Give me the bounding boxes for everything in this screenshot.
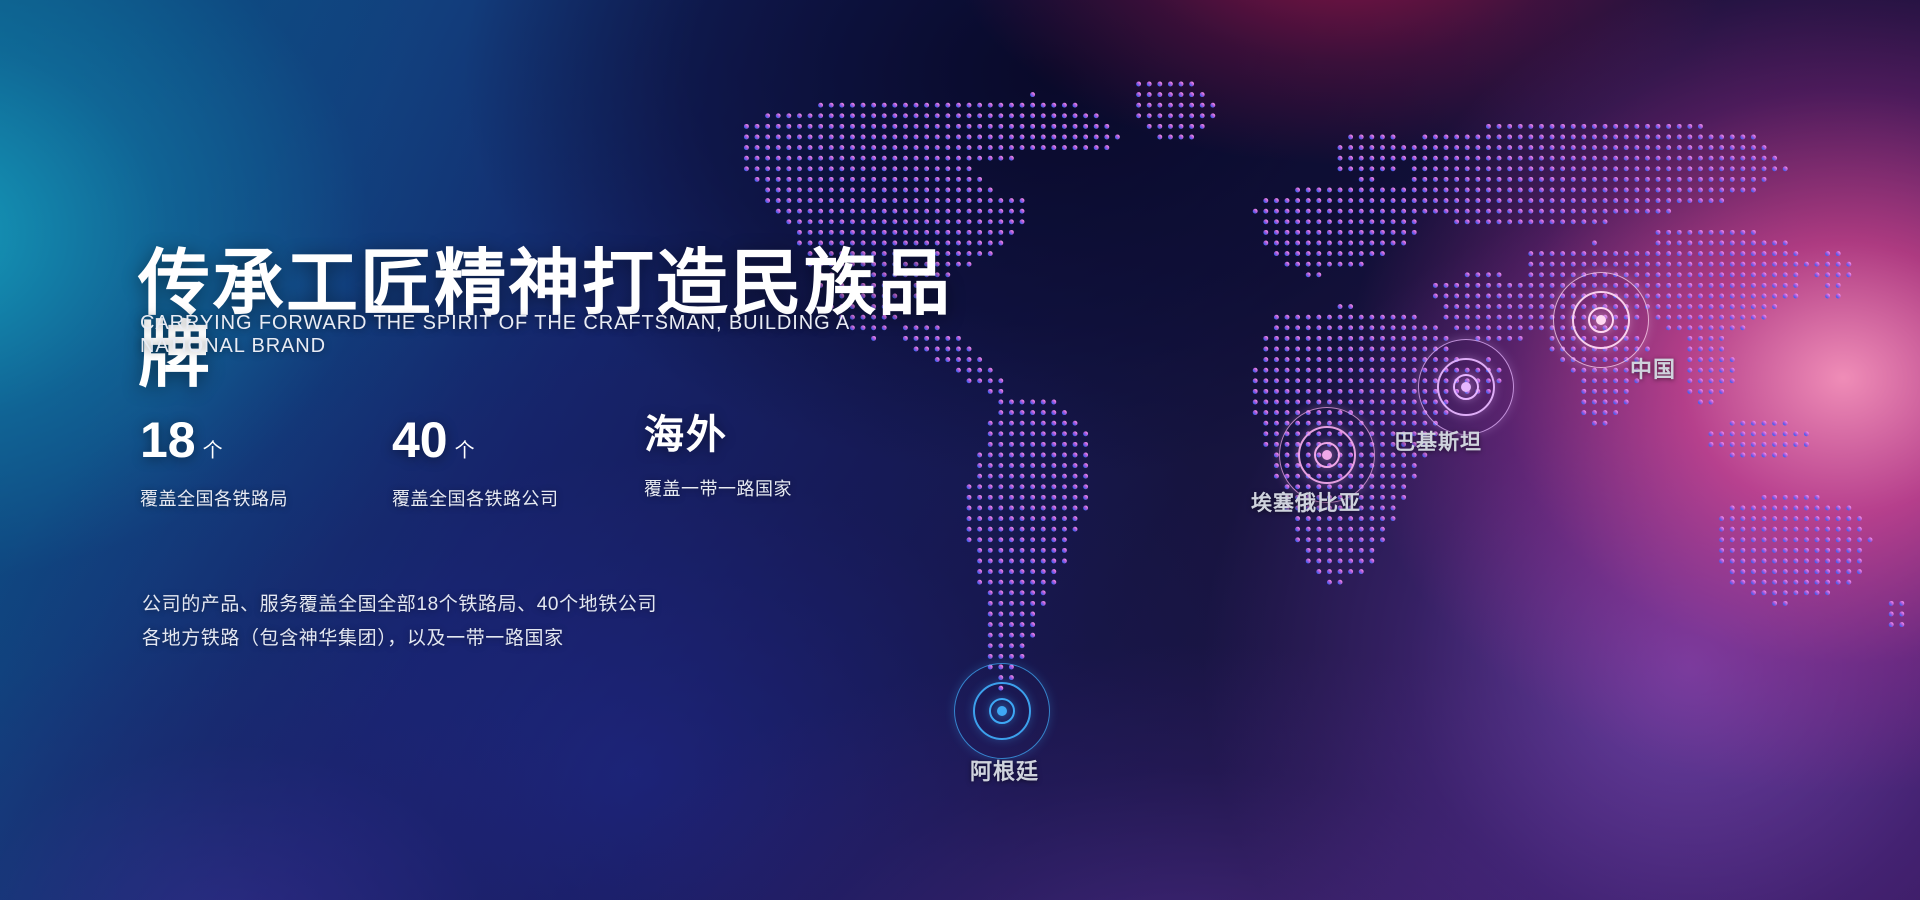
stat-description: 覆盖全国各铁路公司 <box>392 485 644 511</box>
marker-core-dot <box>1596 315 1606 325</box>
map-label-china: 中国 <box>1630 352 1676 384</box>
description-line-2: 各地方铁路（包含神华集团），以及一带一路国家 <box>142 622 657 656</box>
stats-row: 18 个 覆盖全国各铁路局 40 个 覆盖全国各铁路公司 海外 覆盖一带一路国家 <box>140 415 792 511</box>
map-label-pakistan: 巴基斯坦 <box>1394 426 1482 456</box>
description-line-1: 公司的产品、服务覆盖全国全部18个铁路局、40个地铁公司 <box>142 588 657 622</box>
stat-value-group: 海外 <box>644 415 792 455</box>
hero-banner: 中国巴基斯坦埃塞俄比亚阿根廷 传承工匠精神打造民族品牌 CARRYING FOR… <box>0 0 1920 900</box>
stat-item-railway-bureaus: 18 个 覆盖全国各铁路局 <box>140 415 392 511</box>
stat-value-group: 40 个 <box>392 415 644 465</box>
stat-number: 40 <box>392 415 448 465</box>
stat-value-group: 18 个 <box>140 415 392 465</box>
page-subtitle: CARRYING FORWARD THE SPIRIT OF THE CRAFT… <box>140 312 960 358</box>
stat-unit: 个 <box>455 434 475 463</box>
description-paragraph: 公司的产品、服务覆盖全国全部18个铁路局、40个地铁公司 各地方铁路（包含神华集… <box>142 588 657 656</box>
hero-content: 传承工匠精神打造民族品牌 CARRYING FORWARD THE SPIRIT… <box>0 0 960 900</box>
stat-item-overseas: 海外 覆盖一带一路国家 <box>644 415 792 501</box>
stat-number: 海外 <box>644 415 728 455</box>
stat-description: 覆盖全国各铁路局 <box>140 485 392 511</box>
marker-core-dot <box>1461 382 1471 392</box>
stat-unit: 个 <box>203 434 223 463</box>
marker-core-dot <box>1322 450 1332 460</box>
map-label-ethiopia: 埃塞俄比亚 <box>1251 487 1361 517</box>
map-label-argentina: 阿根廷 <box>970 754 1039 786</box>
stat-item-railway-companies: 40 个 覆盖全国各铁路公司 <box>392 415 644 511</box>
stat-description: 覆盖一带一路国家 <box>644 475 792 501</box>
marker-core-dot <box>997 706 1007 716</box>
stat-number: 18 <box>140 415 196 465</box>
